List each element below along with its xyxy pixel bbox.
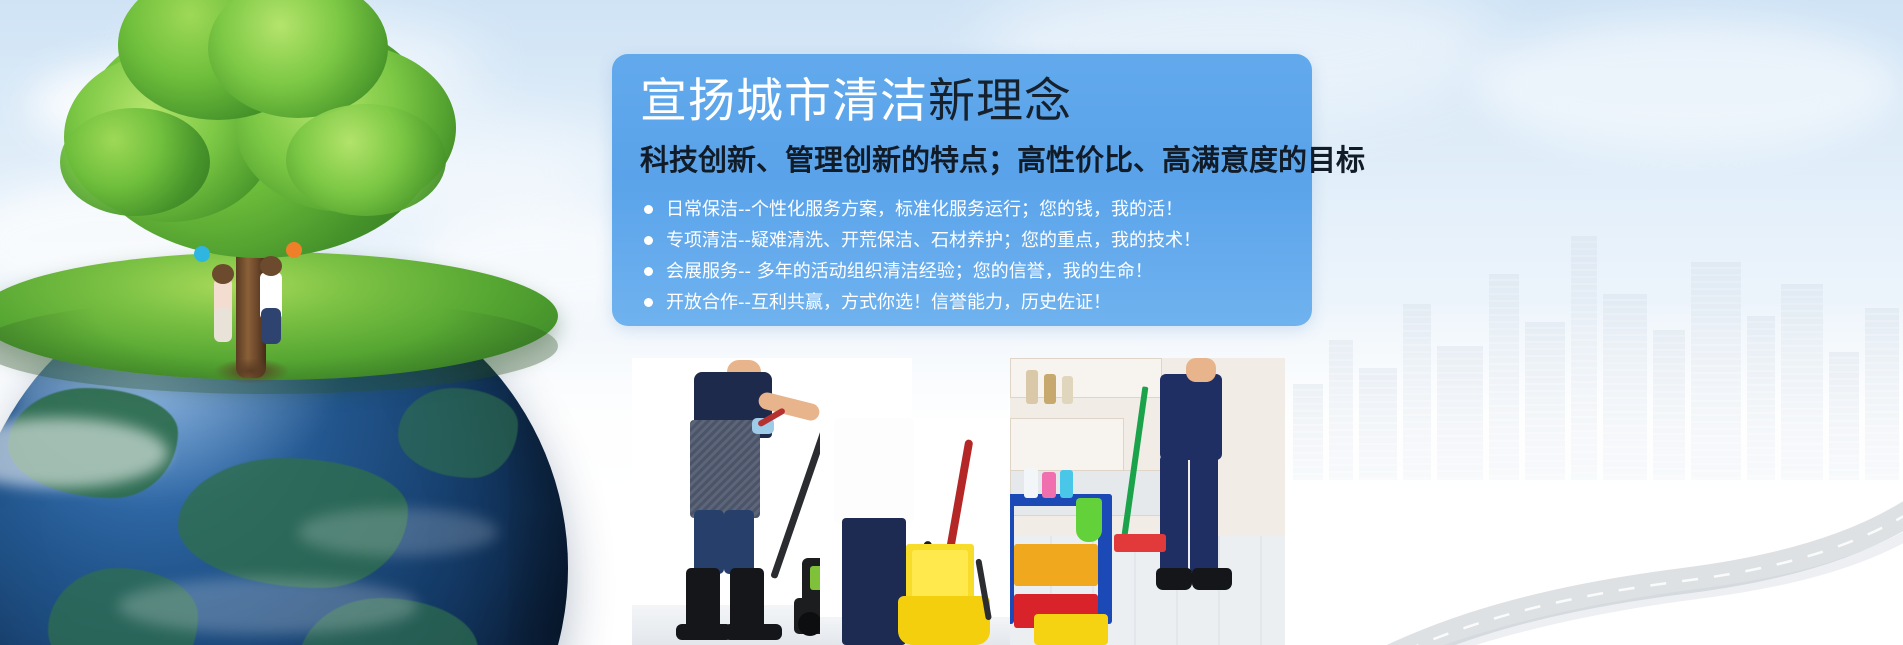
panel-subtitle: 科技创新、管理创新的特点；高性价比、高满意度的目标 bbox=[640, 146, 1365, 175]
pinwheel-icon bbox=[286, 242, 302, 258]
feature-list: 日常保洁--个性化服务方案，标准化服务运行；您的钱，我的活！ 专项清洁--疑难清… bbox=[644, 194, 1304, 318]
list-item-label: 会展服务-- 多年的活动组织清洁经验；您的信誉，我的生命！ bbox=[666, 263, 1153, 281]
earth-globe-graphic bbox=[0, 148, 588, 645]
tree-canopy bbox=[60, 108, 210, 216]
list-item: 会展服务-- 多年的活动组织清洁经验；您的信誉，我的生命！ bbox=[644, 256, 1304, 287]
child-figure bbox=[214, 308, 232, 342]
tree-canopy bbox=[286, 104, 446, 216]
list-item-label: 日常保洁--个性化服务方案，标准化服务运行；您的钱，我的活！ bbox=[666, 201, 1183, 219]
photo-janitor-cart-in-kitchen bbox=[1010, 358, 1285, 645]
child-figure bbox=[212, 264, 234, 284]
info-panel: 宣扬城市清洁新理念 科技创新、管理创新的特点；高性价比、高满意度的目标 日常保洁… bbox=[612, 54, 1312, 326]
list-item: 开放合作--互利共赢，方式你选！信誉能力，历史佐证！ bbox=[644, 287, 1304, 318]
bullet-dot-icon bbox=[644, 236, 653, 245]
pinwheel-icon bbox=[194, 246, 210, 262]
list-item-label: 开放合作--互利共赢，方式你选！信誉能力，历史佐证！ bbox=[666, 294, 1111, 312]
bullet-dot-icon bbox=[644, 205, 653, 214]
highway-graphic bbox=[1283, 385, 1903, 645]
child-figure bbox=[261, 308, 281, 344]
panel-title-highlight: 宣扬城市清洁 bbox=[640, 74, 928, 129]
list-item: 专项清洁--疑难清洗、开荒保洁、石材养护；您的重点，我的技术！ bbox=[644, 225, 1304, 256]
child-figure bbox=[260, 256, 282, 276]
cleaning-service-banner: 宣扬城市清洁新理念 科技创新、管理创新的特点；高性价比、高满意度的目标 日常保洁… bbox=[0, 0, 1903, 645]
bullet-dot-icon bbox=[644, 267, 653, 276]
list-item: 日常保洁--个性化服务方案，标准化服务运行；您的钱，我的活！ bbox=[644, 194, 1304, 225]
list-item-label: 专项清洁--疑难清洗、开荒保洁、石材养护；您的重点，我的技术！ bbox=[666, 232, 1201, 250]
bullet-dot-icon bbox=[644, 298, 653, 307]
panel-title: 宣扬城市清洁新理念 bbox=[640, 78, 1072, 125]
cloud-icon bbox=[1480, 20, 1900, 150]
panel-title-accent: 新理念 bbox=[928, 74, 1072, 129]
